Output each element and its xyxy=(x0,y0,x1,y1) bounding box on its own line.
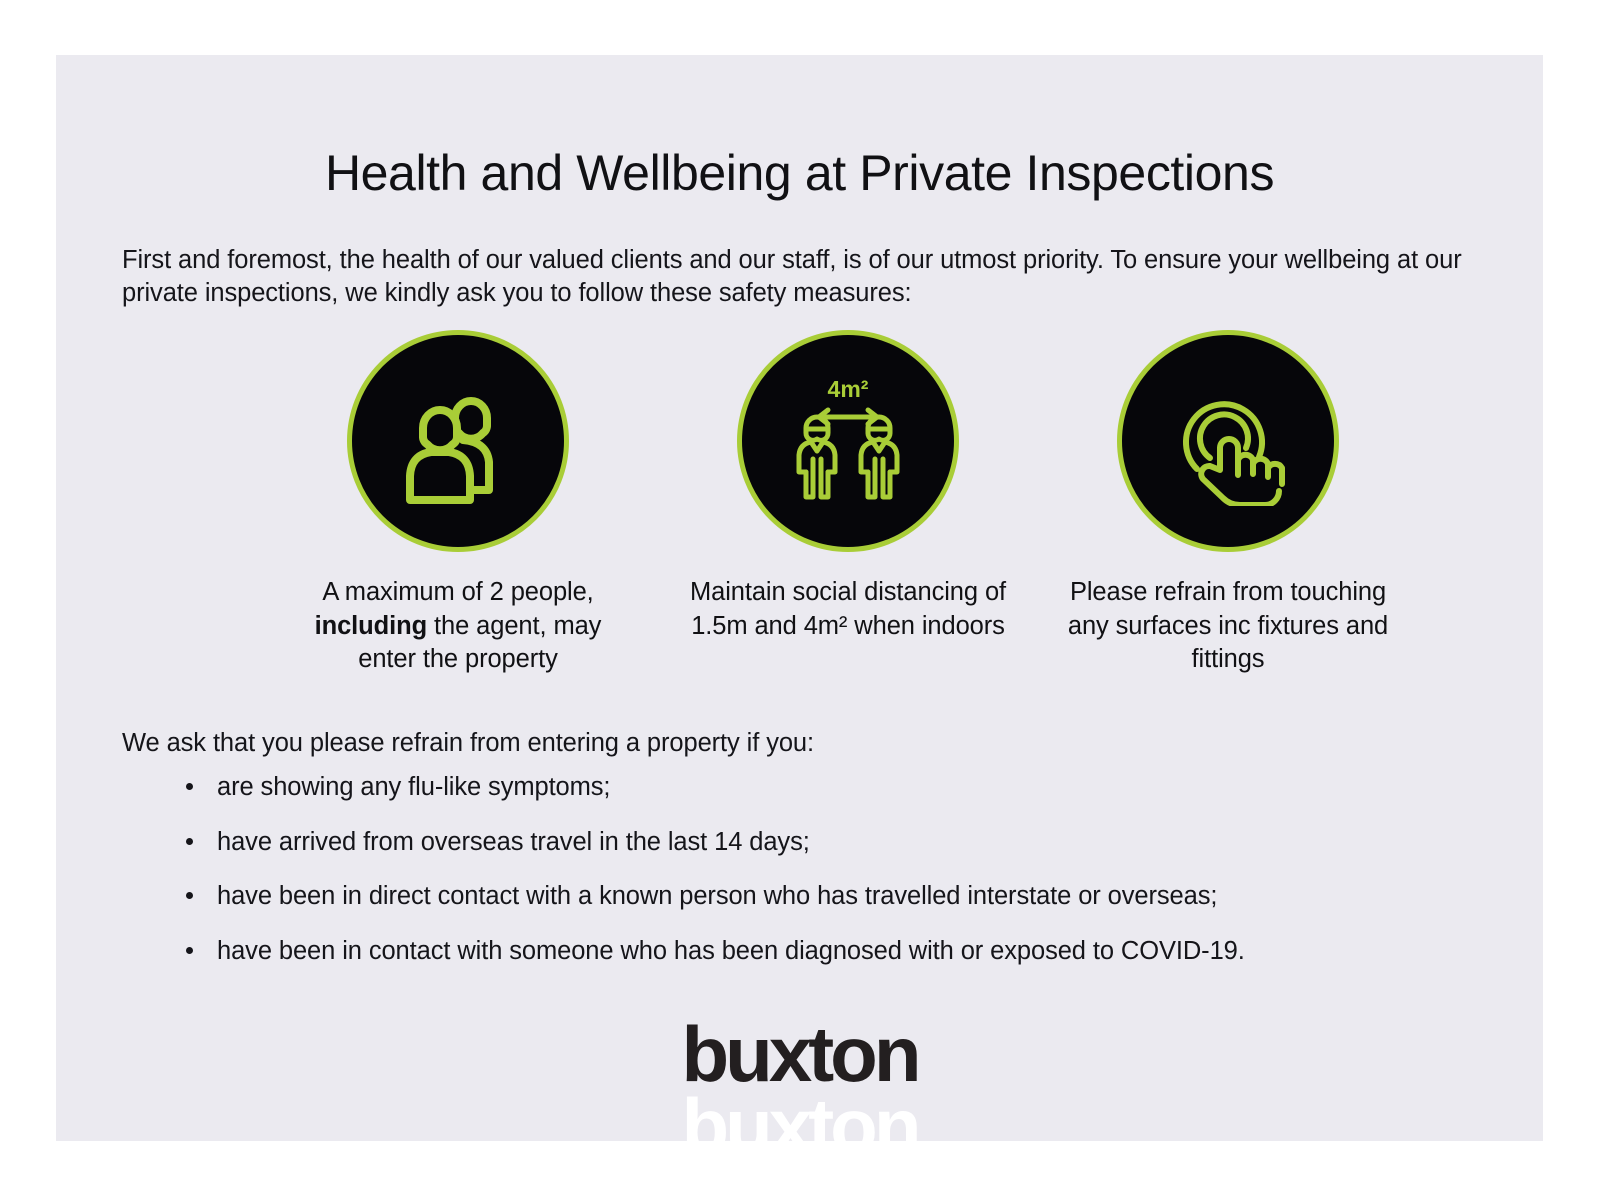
buxton-logo: buxton xyxy=(682,1015,918,1093)
list-item: have been in contact with someone who ha… xyxy=(217,935,1543,968)
social-distancing-icon: 4m² xyxy=(737,330,959,552)
measure-caption: Please refrain from touching any surface… xyxy=(1061,576,1395,677)
bullet-dot-icon xyxy=(186,947,193,954)
caption-line-a: A maximum of 2 people, xyxy=(322,578,593,606)
measure-caption: A maximum of 2 people, including the age… xyxy=(291,576,625,677)
bullet-dot-icon xyxy=(186,783,193,790)
bullet-dot-icon xyxy=(186,838,193,845)
poster-canvas: Health and Wellbeing at Private Inspecti… xyxy=(0,0,1600,1200)
list-item-label: are showing any flu-like symptoms; xyxy=(217,773,610,801)
page-title: Health and Wellbeing at Private Inspecti… xyxy=(56,146,1543,201)
list-item-label: have arrived from overseas travel in the… xyxy=(217,828,810,856)
intro-paragraph: First and foremost, the health of our va… xyxy=(122,244,1487,312)
measure-caption: Maintain social distancing of 1.5m and 4… xyxy=(681,576,1015,643)
refrain-list: are showing any flu-like symptoms; have … xyxy=(162,771,1543,990)
brand-logo-wrap: buxton xyxy=(56,1015,1543,1093)
caption-line-a: Please refrain from touching any surface… xyxy=(1068,578,1388,673)
list-item-label: have been in contact with someone who ha… xyxy=(217,937,1245,965)
buxton-logo-reflection: buxton xyxy=(56,1087,1543,1141)
measure-item-max-people: A maximum of 2 people, including the age… xyxy=(291,330,625,677)
hand-touch-icon xyxy=(1117,330,1339,552)
icon-area-label: 4m² xyxy=(828,376,869,402)
poster-panel: Health and Wellbeing at Private Inspecti… xyxy=(56,55,1543,1141)
bullet-dot-icon xyxy=(186,892,193,899)
list-item: are showing any flu-like symptoms; xyxy=(217,771,1543,804)
list-item-label: have been in direct contact with a known… xyxy=(217,882,1217,910)
two-people-icon xyxy=(347,330,569,552)
refrain-lead-text: We ask that you please refrain from ente… xyxy=(122,727,814,760)
list-item: have been in direct contact with a known… xyxy=(217,880,1543,913)
measure-item-social-distancing: 4m² xyxy=(681,330,1015,677)
caption-line-a: Maintain social distancing of 1.5m and 4… xyxy=(690,578,1006,640)
list-item: have arrived from overseas travel in the… xyxy=(217,826,1543,859)
caption-bold: including xyxy=(315,612,427,640)
buxton-logo-reflection-text: buxton xyxy=(682,1087,918,1141)
measures-row: A maximum of 2 people, including the age… xyxy=(122,330,1487,677)
measure-item-no-touching: Please refrain from touching any surface… xyxy=(1061,330,1395,677)
